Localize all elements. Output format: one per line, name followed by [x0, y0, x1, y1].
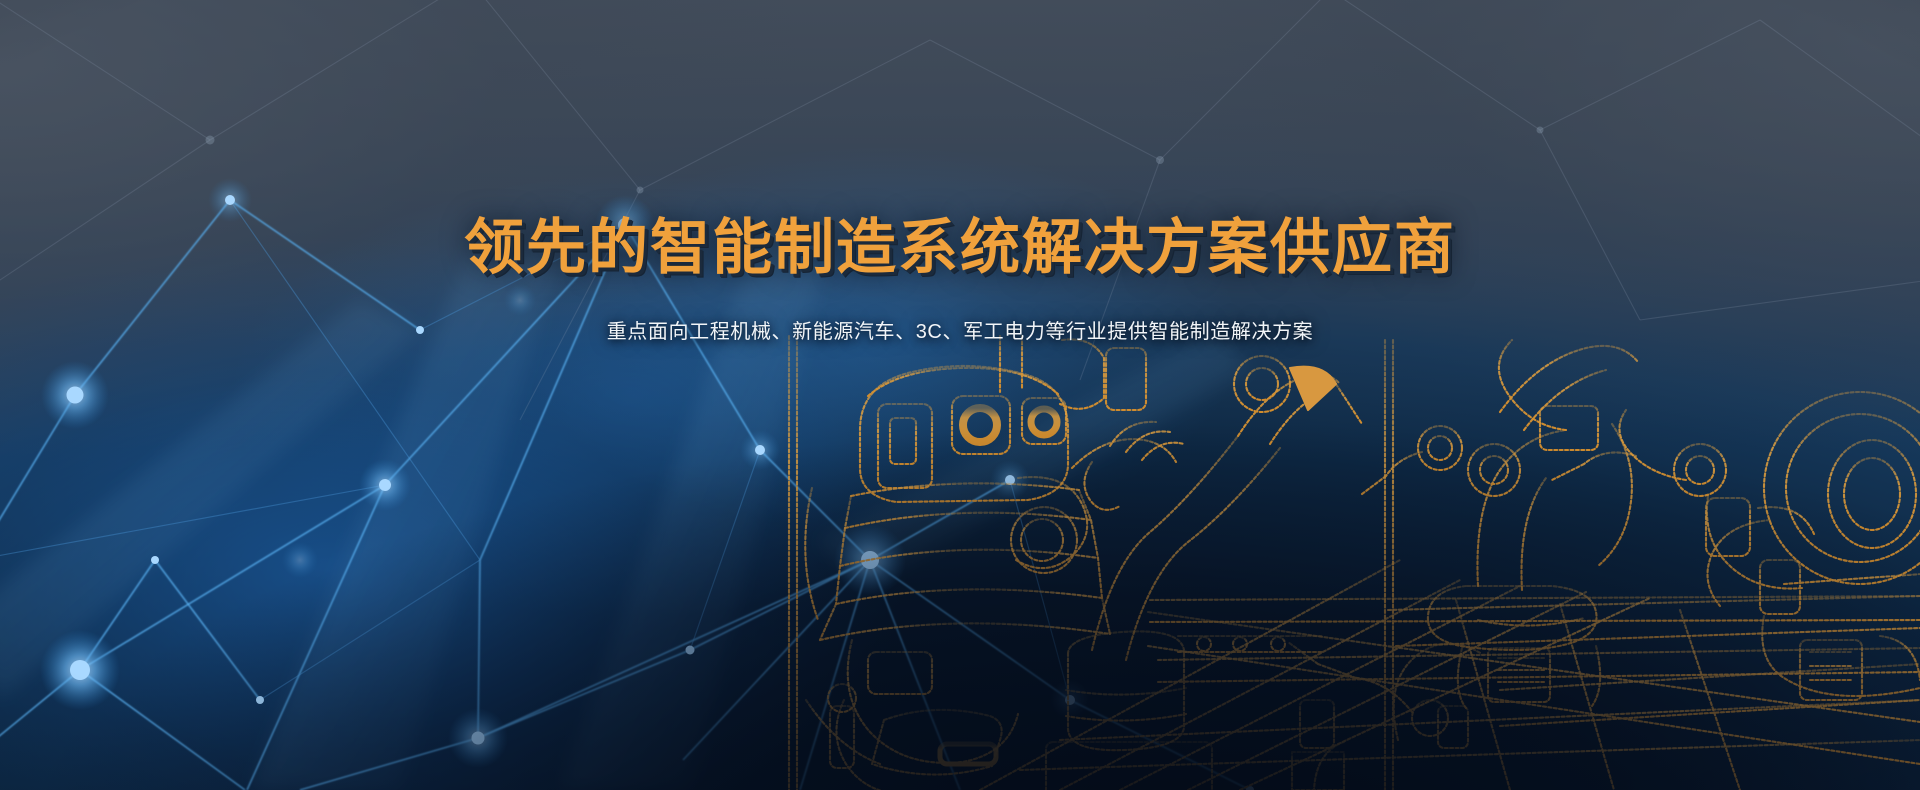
page-subtitle: 重点面向工程机械、新能源汽车、3C、军工电力等行业提供智能制造解决方案: [0, 317, 1920, 347]
page-title: 领先的智能制造系统解决方案供应商: [0, 214, 1920, 281]
background-vignette: [0, 0, 1920, 790]
hero-copy: 领先的智能制造系统解决方案供应商 重点面向工程机械、新能源汽车、3C、军工电力等…: [0, 214, 1920, 347]
hero-banner: 领先的智能制造系统解决方案供应商 重点面向工程机械、新能源汽车、3C、军工电力等…: [0, 0, 1920, 790]
